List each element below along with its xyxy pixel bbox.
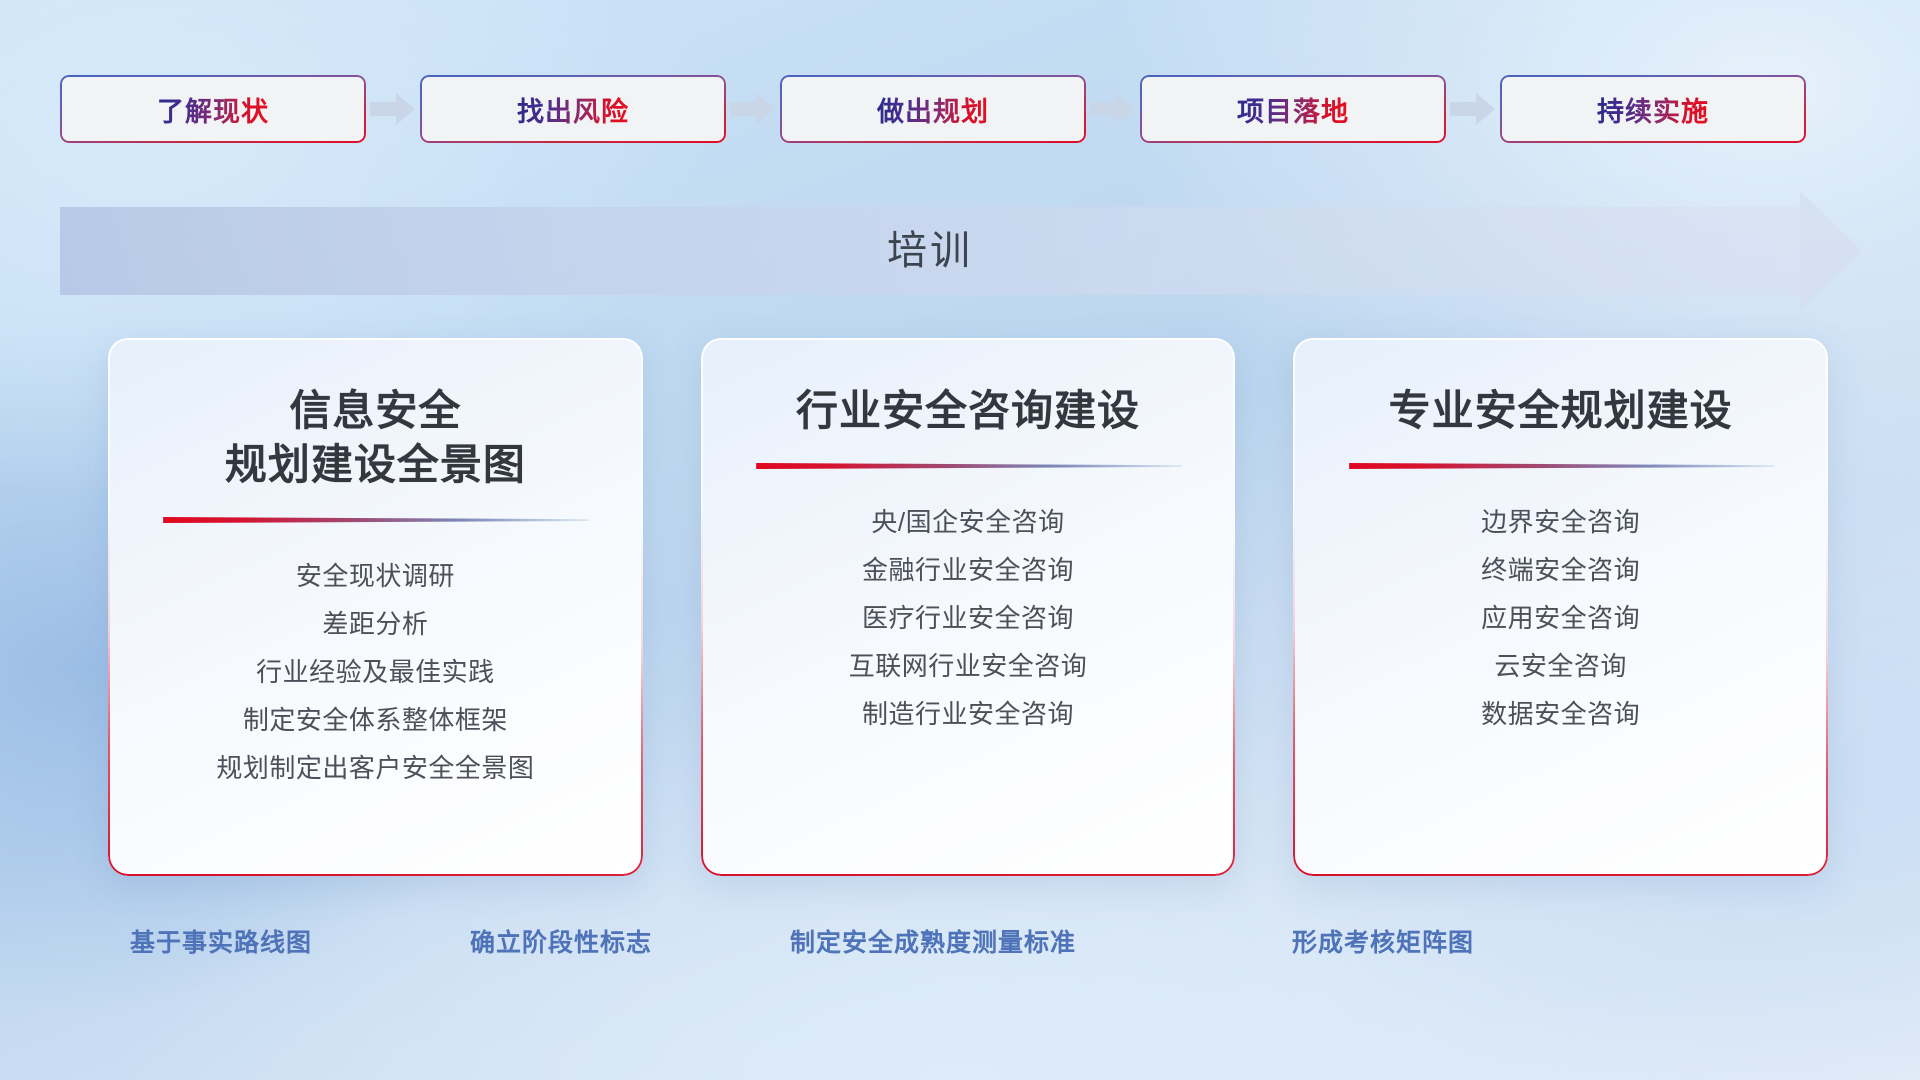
list-item: 云安全咨询 [1293, 642, 1828, 690]
banner-title: 培训 [60, 207, 1800, 295]
step-box-4[interactable]: 项目落地 [1140, 75, 1446, 143]
step-label: 了解现状 [157, 90, 269, 129]
card-1[interactable]: 信息安全 规划建设全景图 [108, 338, 643, 876]
list-item: 差距分析 [108, 600, 643, 648]
gradient-divider-icon [161, 514, 589, 526]
step-label: 持续实施 [1597, 90, 1709, 129]
card-3[interactable]: 专业安全规划建设 [1293, 338, 1828, 876]
list-item: 金融行业安全咨询 [701, 546, 1236, 594]
process-step-row: 了解现状 找出风险 做出规划 项目落地 [60, 75, 1860, 143]
caption-2: 确立阶段性标志 [470, 920, 652, 966]
list-item: 终端安全咨询 [1293, 546, 1828, 594]
step-box-2[interactable]: 找出风险 [420, 75, 726, 143]
list-item: 制造行业安全咨询 [701, 690, 1236, 738]
list-item: 央/国企安全咨询 [701, 498, 1236, 546]
card-title: 行业安全咨询建设 [796, 384, 1140, 438]
list-item: 应用安全咨询 [1293, 594, 1828, 642]
list-item: 边界安全咨询 [1293, 498, 1828, 546]
arrow-right-icon [1446, 89, 1500, 129]
list-item: 制定安全体系整体框架 [108, 696, 643, 744]
caption-1: 基于事实路线图 [130, 920, 312, 966]
step-label: 项目落地 [1237, 90, 1349, 129]
gradient-divider-icon [1347, 460, 1775, 472]
card-item-list: 安全现状调研 差距分析 行业经验及最佳实践 制定安全体系整体框架 规划制定出客户… [108, 552, 643, 793]
step-label: 做出规划 [877, 90, 989, 129]
training-banner: 培训 [60, 207, 1860, 295]
arrow-right-icon [366, 89, 420, 129]
slide-canvas: 了解现状 找出风险 做出规划 项目落地 [0, 0, 1920, 1080]
list-item: 互联网行业安全咨询 [701, 642, 1236, 690]
caption-row: 基于事实路线图 确立阶段性标志 制定安全成熟度测量标准 形成考核矩阵图 [0, 920, 1920, 966]
card-title: 信息安全 规划建设全景图 [225, 384, 526, 492]
banner-arrow-right-icon [1800, 191, 1862, 311]
card-title: 专业安全规划建设 [1389, 384, 1733, 438]
card-item-list: 边界安全咨询 终端安全咨询 应用安全咨询 云安全咨询 数据安全咨询 [1293, 498, 1828, 739]
step-box-3[interactable]: 做出规划 [780, 75, 1086, 143]
card-item-list: 央/国企安全咨询 金融行业安全咨询 医疗行业安全咨询 互联网行业安全咨询 制造行… [701, 498, 1236, 739]
step-label: 找出风险 [517, 90, 629, 129]
list-item: 规划制定出客户安全全景图 [108, 744, 643, 792]
caption-4: 形成考核矩阵图 [1292, 920, 1474, 966]
gradient-divider-icon [754, 460, 1182, 472]
arrow-right-icon [1086, 89, 1140, 129]
card-2[interactable]: 行业安全咨询建设 [701, 338, 1236, 876]
caption-3: 制定安全成熟度测量标准 [790, 920, 1076, 966]
step-box-5[interactable]: 持续实施 [1500, 75, 1806, 143]
arrow-right-icon [726, 89, 780, 129]
list-item: 安全现状调研 [108, 552, 643, 600]
list-item: 医疗行业安全咨询 [701, 594, 1236, 642]
list-item: 数据安全咨询 [1293, 690, 1828, 738]
card-row: 信息安全 规划建设全景图 [108, 338, 1828, 876]
list-item: 行业经验及最佳实践 [108, 648, 643, 696]
step-box-1[interactable]: 了解现状 [60, 75, 366, 143]
